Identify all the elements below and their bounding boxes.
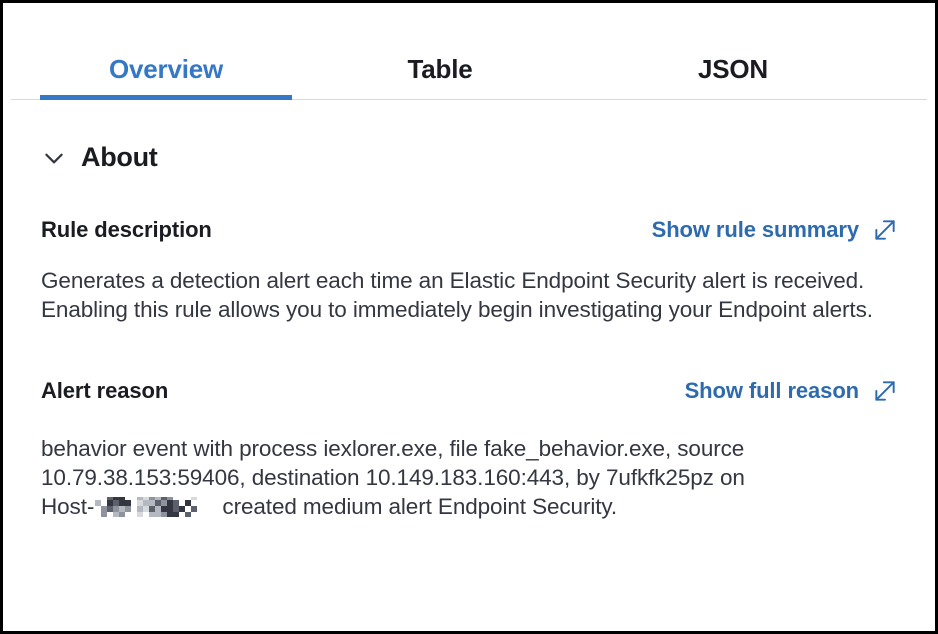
alert-reason-host-suffix: created medium alert Endpoint Security. (216, 494, 617, 519)
tab-table[interactable]: Table (292, 38, 588, 100)
rule-description-text: Generates a detection alert each time an… (41, 266, 893, 324)
about-section-toggle[interactable]: About (41, 144, 898, 171)
alert-reason-host-prefix: Host- (41, 494, 94, 519)
tab-bar: Overview Table JSON (3, 3, 935, 100)
alert-reason-label: Alert reason (41, 378, 168, 404)
show-full-reason-label: Show full reason (685, 378, 859, 404)
rule-description-label: Rule description (41, 217, 212, 243)
popout-icon (872, 378, 898, 404)
redacted-hostname (95, 497, 213, 517)
show-rule-summary-button[interactable]: Show rule summary (652, 217, 898, 243)
overview-tab-content: About Rule description Show rule summary (3, 144, 935, 521)
rule-description-block: Rule description Show rule summary Gener… (41, 215, 898, 324)
tab-overview[interactable]: Overview (40, 38, 292, 100)
chevron-down-icon (41, 145, 67, 171)
alert-reason-block: Alert reason Show full reason behavior e… (41, 376, 898, 521)
rule-description-header: Rule description Show rule summary (41, 215, 898, 245)
alert-reason-line-1: behavior event with process iexlorer.exe… (41, 434, 893, 463)
alert-details-panel: Overview Table JSON About Rule descripti… (0, 0, 938, 634)
show-full-reason-button[interactable]: Show full reason (685, 378, 898, 404)
alert-reason-line-2: 10.79.38.153:59406, destination 10.149.1… (41, 463, 893, 492)
tab-json[interactable]: JSON (588, 38, 878, 100)
about-section-title: About (81, 144, 157, 171)
alert-reason-line-3: Host- created medium alert Endpoint Secu… (41, 492, 893, 521)
popout-icon (872, 217, 898, 243)
alert-reason-text: behavior event with process iexlorer.exe… (41, 434, 893, 521)
show-rule-summary-label: Show rule summary (652, 217, 859, 243)
alert-reason-header: Alert reason Show full reason (41, 376, 898, 406)
